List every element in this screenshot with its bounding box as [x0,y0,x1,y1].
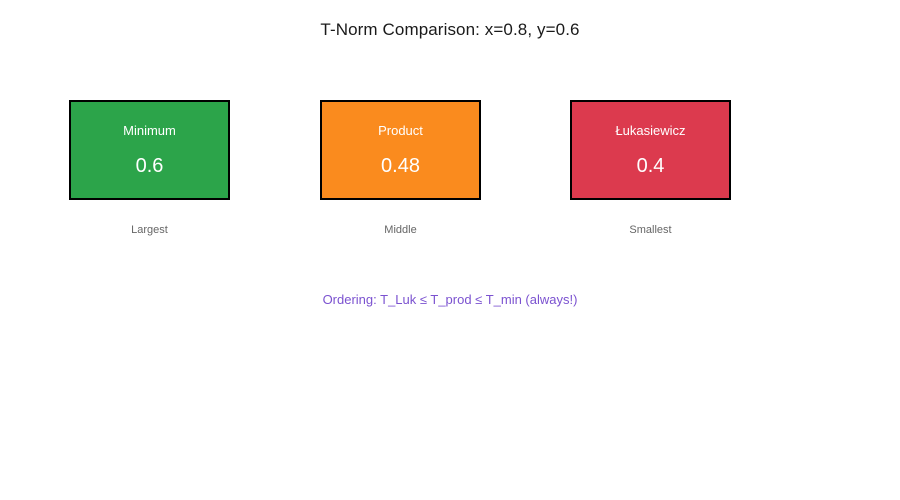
tnorm-cell-lukasiewicz: Łukasiewicz 0.4 Smallest [570,100,731,200]
tnorm-label-lukasiewicz: Łukasiewicz [615,123,685,138]
tnorm-label-product: Product [378,123,423,138]
tnorm-cell-minimum: Minimum 0.6 Largest [69,100,230,200]
tnorm-value-minimum: 0.6 [136,155,164,178]
ordering-annotation: Ordering: T_Luk ≤ T_prod ≤ T_min (always… [0,291,900,308]
tnorm-value-product: 0.48 [381,155,420,178]
tnorm-box-lukasiewicz[interactable]: Łukasiewicz 0.4 [570,100,731,200]
tnorm-cell-product: Product 0.48 Middle [320,100,481,200]
tnorm-boxes-row: Minimum 0.6 Largest Product 0.48 Middle … [0,0,900,500]
tnorm-box-product[interactable]: Product 0.48 [320,100,481,200]
tnorm-value-lukasiewicz: 0.4 [637,155,665,178]
tnorm-caption-minimum: Largest [69,224,230,237]
tnorm-comparison-figure: T-Norm Comparison: x=0.8, y=0.6 Minimum … [0,0,900,500]
tnorm-caption-product: Middle [320,224,481,237]
tnorm-caption-lukasiewicz: Smallest [570,224,731,237]
tnorm-label-minimum: Minimum [123,123,176,138]
tnorm-box-minimum[interactable]: Minimum 0.6 [69,100,230,200]
